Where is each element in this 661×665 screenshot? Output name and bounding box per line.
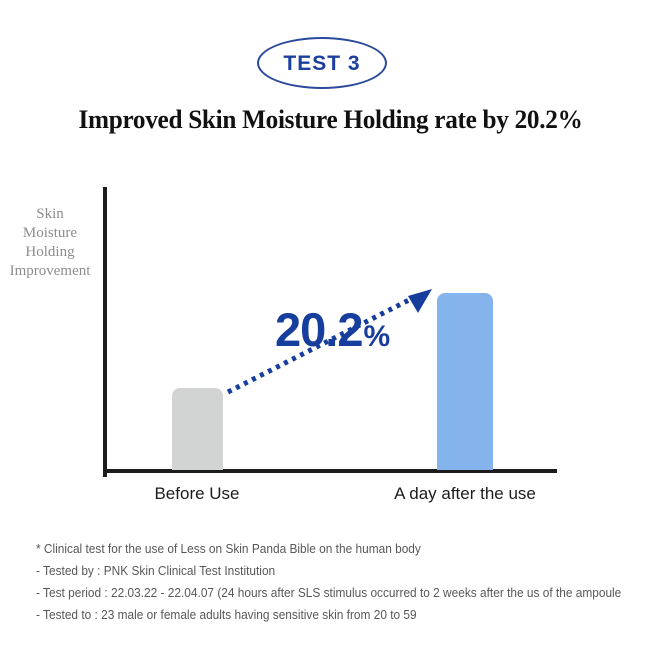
y-axis-label-line-3: Holding — [0, 243, 100, 262]
y-axis-line — [103, 187, 107, 477]
x-tick-label-before-use: Before Use — [112, 484, 282, 504]
footnote-line: - Tested by : PNK Skin Clinical Test Ins… — [36, 560, 616, 582]
x-tick-label-a-day-after-the-use: A day after the use — [375, 484, 555, 504]
y-axis-label-line-1: Skin — [0, 205, 100, 224]
bar-a-day-after-the-use — [437, 293, 493, 470]
y-axis-label-line-2: Moisture — [0, 224, 100, 243]
y-axis-label: Skin Moisture Holding Improvement — [0, 205, 100, 281]
callout-value: 20.2 — [275, 306, 362, 353]
callout-unit: % — [363, 322, 389, 352]
footnotes: * Clinical test for the use of Less on S… — [36, 538, 646, 626]
footnote-line: - Test period : 22.03.22 - 22.04.07 (24 … — [36, 582, 616, 604]
footnote-line: - Tested to : 23 male or female adults h… — [36, 604, 616, 626]
footnote-line: * Clinical test for the use of Less on S… — [36, 538, 616, 560]
bar-before-use — [172, 388, 223, 470]
improvement-callout: 20.2 % — [275, 306, 389, 353]
y-axis-label-line-4: Improvement — [0, 262, 100, 281]
